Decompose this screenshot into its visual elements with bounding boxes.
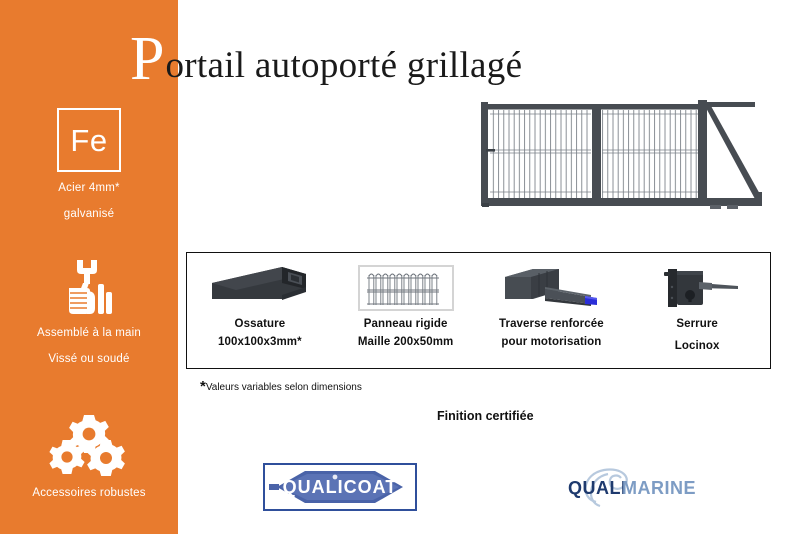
hand-wrench-icon xyxy=(57,258,121,318)
gate-left-foot xyxy=(482,203,489,207)
qualimarine-logo-text-bold: QUALI xyxy=(568,478,627,498)
sidebar-item-accessories: Accessoires robustes xyxy=(0,414,178,501)
feature-traverse: Traverse renforcée pour motorisation xyxy=(479,253,625,368)
feature-ossature-caption-2: 100x100x3mm* xyxy=(218,334,302,350)
qualicoat-logo: QUALICOAT xyxy=(263,463,417,511)
cantilever-sliding-gate-illustration xyxy=(472,92,762,217)
gate-bottom-rail xyxy=(481,198,762,206)
footnote: *Valeurs variables selon dimensions xyxy=(200,378,362,395)
page-title: P ortail autoporté grillagé xyxy=(130,26,522,86)
qualicoat-logo-text: QUALICOAT xyxy=(283,477,398,497)
qualimarine-logo: QUALI MARINE xyxy=(560,462,710,510)
features-panel: Ossature 100x100x3mm* xyxy=(186,252,771,369)
rigid-mesh-panel-icon xyxy=(358,265,454,311)
feature-ossature-caption-1: Ossature xyxy=(235,316,286,332)
sidebar-item-assembly-label-1: Assemblé à la main xyxy=(0,326,178,341)
feature-panneau: Panneau rigide Maille 200x50mm xyxy=(333,253,479,368)
footnote-text: Valeurs variables selon dimensions xyxy=(206,382,362,393)
page-title-initial: P xyxy=(130,28,164,90)
qualimarine-logo-art: QUALI MARINE xyxy=(560,462,710,510)
gate-roller-1 xyxy=(710,205,721,209)
gears-icon xyxy=(43,414,135,478)
sidebar-item-steel: Fe Acier 4mm* galvanisé xyxy=(0,108,178,222)
feature-traverse-caption-1: Traverse renforcée xyxy=(499,316,604,332)
gate-latch-icon xyxy=(486,149,495,152)
gate-mesh-panel-1 xyxy=(490,110,591,198)
feature-panneau-caption-2: Maille 200x50mm xyxy=(358,334,453,350)
lock-icon xyxy=(650,265,744,311)
gate-middle-post xyxy=(592,104,601,200)
page-title-text: ortail autoporté grillagé xyxy=(165,47,522,84)
sidebar-item-steel-label-1: Acier 4mm* xyxy=(0,181,178,196)
feature-serrure: Serrure Locinox xyxy=(624,253,770,368)
feature-serrure-caption-1: Serrure xyxy=(676,316,718,332)
gate-top-rail xyxy=(481,104,700,110)
steel-profile-icon xyxy=(210,265,310,311)
gate-mesh-panel-2 xyxy=(602,110,698,198)
gate-tail-end-post xyxy=(755,192,762,206)
feature-traverse-art xyxy=(499,260,603,316)
gate-tail-brace xyxy=(705,106,761,199)
gate-left-post xyxy=(481,102,488,206)
sidebar-item-assembly: Assemblé à la main Vissé ou soudé xyxy=(0,258,178,367)
feature-panneau-art xyxy=(358,260,454,316)
feature-serrure-art xyxy=(650,260,744,316)
gate-tail-top xyxy=(705,102,755,107)
feature-ossature: Ossature 100x100x3mm* xyxy=(187,253,333,368)
feature-ossature-art xyxy=(210,260,310,316)
gate-right-post xyxy=(698,100,707,206)
reinforced-beam-icon xyxy=(499,265,603,311)
certification-heading: Finition certifiée xyxy=(437,409,534,423)
qualimarine-logo-text-light: MARINE xyxy=(622,478,696,498)
sidebar-item-accessories-label: Accessoires robustes xyxy=(0,486,178,501)
feature-serrure-caption-2: Locinox xyxy=(675,338,720,354)
feature-panneau-caption-1: Panneau rigide xyxy=(364,316,448,332)
gate-roller-2 xyxy=(727,205,738,209)
fe-symbol: Fe xyxy=(70,125,107,156)
feature-traverse-caption-2: pour motorisation xyxy=(501,334,601,350)
sidebar-item-steel-label-2: galvanisé xyxy=(0,207,178,222)
qualicoat-logo-art: QUALICOAT xyxy=(265,465,415,509)
product-datasheet: Fe Acier 4mm* galvanisé xyxy=(0,0,800,534)
fe-square-icon: Fe xyxy=(57,108,121,172)
sidebar-item-assembly-label-2: Vissé ou soudé xyxy=(0,352,178,367)
